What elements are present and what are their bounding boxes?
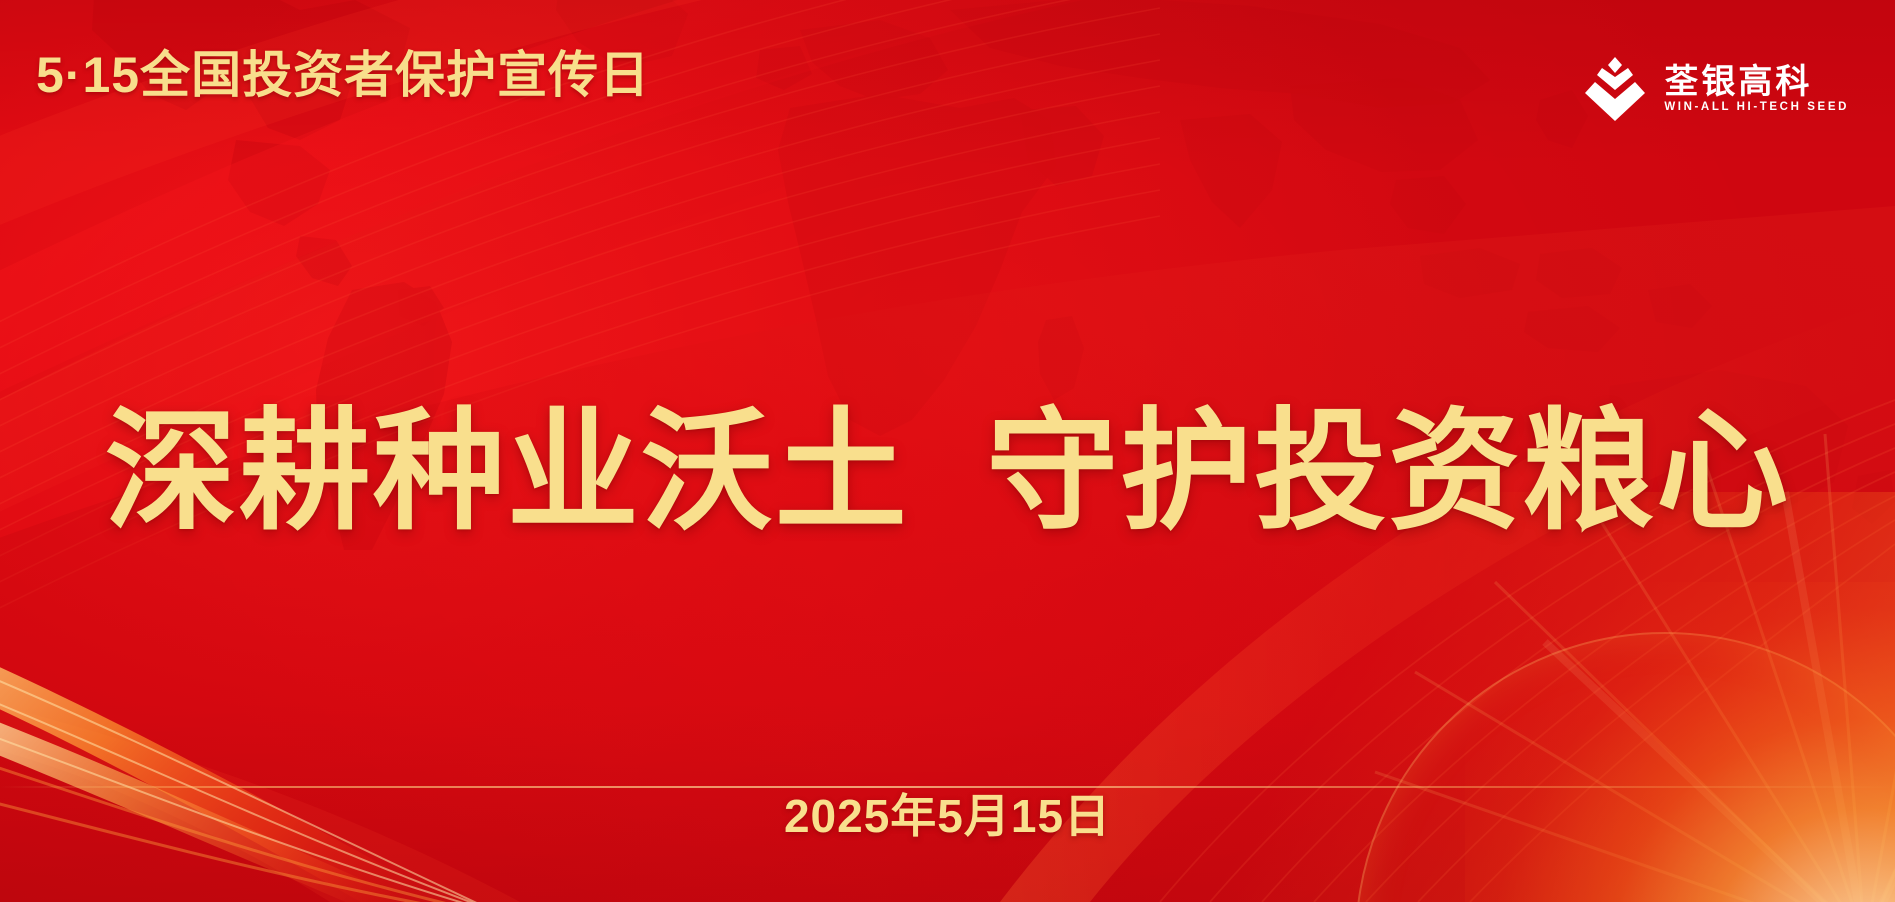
event-date-text: 2025年5月15日 <box>784 790 1111 842</box>
main-title: 深耕种业沃土 守护投资粮心 <box>0 388 1895 557</box>
event-date: 2025年5月15日 <box>0 793 1895 839</box>
logo-text-block: 荃银高科 WIN-ALL HI-TECH SEED <box>1664 65 1849 114</box>
company-logo: 荃银高科 WIN-ALL HI-TECH SEED <box>1584 55 1849 123</box>
golden-light-streaks <box>0 612 860 902</box>
main-title-text: 深耕种业沃土 守护投资粮心 <box>105 388 1790 557</box>
horizontal-light-line <box>0 786 1895 788</box>
header-slogan: 5·15全国投资者保护宣传日 <box>36 50 650 100</box>
logo-company-name-cn: 荃银高科 <box>1664 65 1849 99</box>
win-all-chevron-logo-icon <box>1584 55 1646 123</box>
investor-protection-banner: 5·15全国投资者保护宣传日 荃银高科 WIN-ALL HI-TECH SEED… <box>0 0 1895 902</box>
logo-company-name-en: WIN-ALL HI-TECH SEED <box>1664 102 1849 114</box>
